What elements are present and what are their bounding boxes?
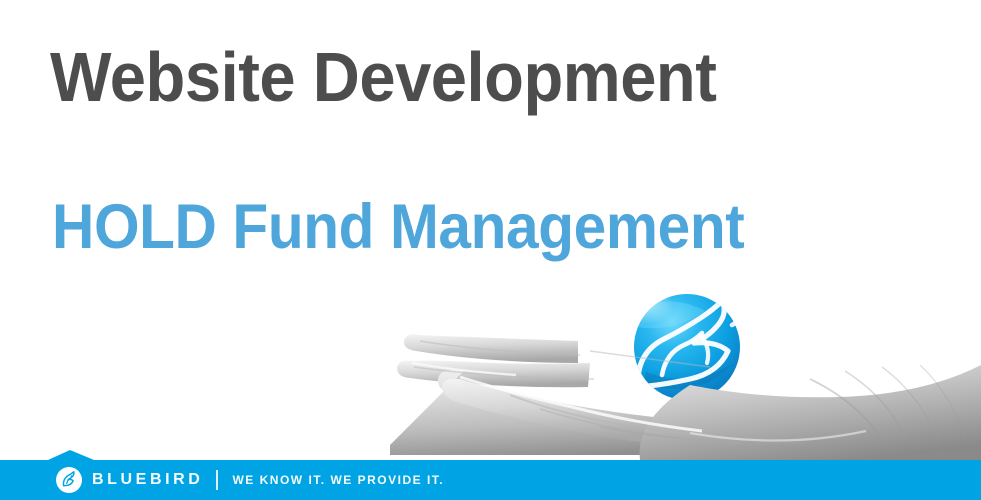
slide-canvas: Website Development HOLD Fund Management: [0, 0, 981, 500]
brand-name: BLUEBIRD: [92, 472, 203, 488]
page-subtitle: HOLD Fund Management: [52, 194, 744, 260]
headline-block: Website Development HOLD Fund Management: [50, 40, 910, 114]
footer-notch-shape: [48, 450, 94, 460]
hero-image-hand-holding-sphere: [390, 275, 981, 465]
bluebird-logo-icon: [56, 467, 82, 493]
footer-content: BLUEBIRD WE KNOW IT. WE PROVIDE IT.: [0, 460, 981, 500]
brand-tagline: WE KNOW IT. WE PROVIDE IT.: [232, 474, 444, 486]
footer-divider: [216, 470, 218, 490]
page-title: Website Development: [50, 40, 850, 114]
